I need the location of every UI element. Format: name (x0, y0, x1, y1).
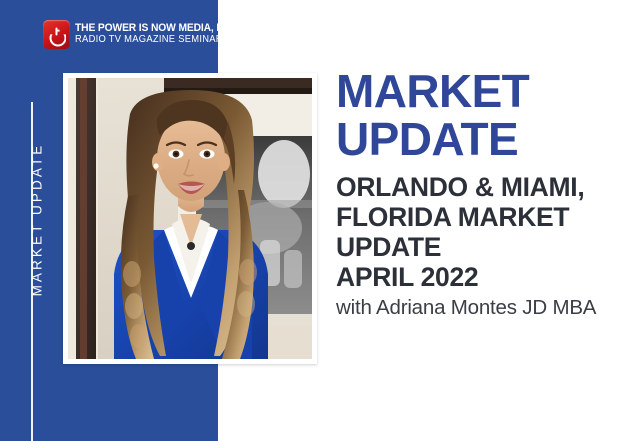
presenter-photo-image (68, 78, 312, 359)
subtitle-line-4: APRIL 2022 (336, 262, 636, 292)
slide-text-content: MARKET UPDATE ORLANDO & MIAMI, FLORIDA M… (336, 68, 636, 320)
presenter-credit: with Adriana Montes JD MBA (336, 296, 636, 320)
sidebar-vertical-label: MARKET UPDATE (30, 120, 45, 320)
power-ring-shape (49, 30, 66, 47)
subtitle-line-3: UPDATE (336, 232, 636, 262)
market-update-slide: MARKET UPDATE THE POWER IS NOW MEDIA, IN… (0, 0, 642, 441)
subtitle: ORLANDO & MIAMI, FLORIDA MARKET UPDATE A… (336, 172, 636, 293)
page-title: MARKET UPDATE (336, 68, 636, 164)
presenter-photo-frame (63, 73, 317, 364)
headline-line-1: MARKET (336, 65, 529, 117)
subtitle-line-1: ORLANDO & MIAMI, (336, 172, 636, 202)
presenter-photo (68, 78, 312, 359)
power-button-icon (43, 20, 70, 49)
power-glyph (49, 28, 64, 43)
logo-text-block: THE POWER IS NOW MEDIA, INC. RADIO TV MA… (75, 23, 250, 45)
headline-line-2: UPDATE (336, 113, 518, 165)
brand-logo: THE POWER IS NOW MEDIA, INC. RADIO TV MA… (43, 20, 250, 49)
subtitle-line-2: FLORIDA MARKET (336, 202, 636, 232)
logo-tagline: RADIO TV MAGAZINE SEMINARS (75, 35, 236, 46)
